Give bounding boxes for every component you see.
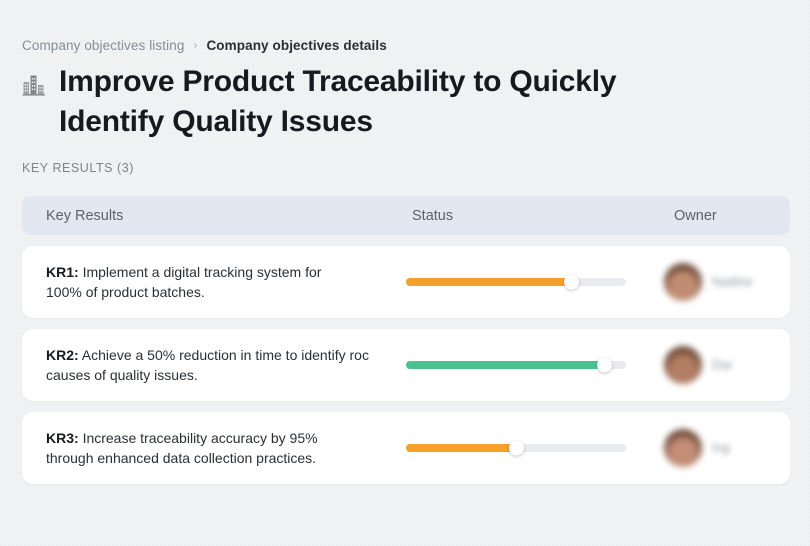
owner-name: Ing — [712, 441, 730, 455]
owner-cell[interactable]: Nadine — [658, 263, 790, 301]
owner-cell[interactable]: Ing — [658, 429, 790, 467]
owner-name: Nadine — [712, 275, 753, 289]
breadcrumb-link-listing[interactable]: Company objectives listing — [22, 38, 184, 53]
key-result-id: KR1: — [46, 264, 79, 280]
key-result-line-2: 100% of product batches. — [46, 282, 396, 302]
owner-name: Dar — [712, 358, 733, 372]
page-title-row: Improve Product Traceability to Quickly … — [22, 62, 722, 142]
key-result-text: KR3: Increase traceability accuracy by 9… — [46, 428, 396, 469]
column-header-owner: Owner — [674, 208, 790, 224]
breadcrumb-current-details: Company objectives details — [206, 38, 386, 53]
breadcrumb: Company objectives listing › Company obj… — [22, 38, 387, 53]
table-row[interactable]: KR3: Increase traceability accuracy by 9… — [22, 412, 790, 484]
avatar — [664, 346, 702, 384]
key-result-line-2: causes of quality issues. — [46, 365, 396, 385]
key-result-text: KR1: Implement a digital tracking system… — [46, 262, 396, 303]
key-results-table: Key Results Status Owner KR1: Implement … — [22, 196, 790, 484]
column-header-key-results: Key Results — [46, 208, 412, 224]
progress-slider[interactable] — [406, 444, 626, 452]
avatar — [664, 263, 702, 301]
table-row[interactable]: KR2: Achieve a 50% reduction in time to … — [22, 329, 790, 401]
key-result-line-1: Implement a digital tracking system for — [83, 264, 322, 280]
progress-knob[interactable] — [509, 441, 524, 456]
page-root: Company objectives listing › Company obj… — [0, 0, 810, 546]
status-cell — [396, 361, 658, 369]
progress-fill — [406, 278, 571, 286]
progress-slider[interactable] — [406, 278, 626, 286]
progress-slider[interactable] — [406, 361, 626, 369]
key-results-section-label: KEY RESULTS (3) — [22, 161, 134, 175]
progress-fill — [406, 361, 604, 369]
table-header-row: Key Results Status Owner — [22, 196, 790, 235]
key-result-line-1: Achieve a 50% reduction in time to ident… — [82, 347, 369, 363]
progress-knob[interactable] — [564, 275, 579, 290]
key-result-id: KR2: — [46, 347, 79, 363]
page-title: Improve Product Traceability to Quickly … — [59, 62, 699, 142]
progress-fill — [406, 444, 516, 452]
breadcrumb-separator-icon: › — [193, 39, 197, 51]
key-result-id: KR3: — [46, 430, 79, 446]
status-cell — [396, 444, 658, 452]
office-building-icon — [22, 71, 46, 97]
key-result-text: KR2: Achieve a 50% reduction in time to … — [46, 345, 396, 386]
avatar — [664, 429, 702, 467]
column-header-status: Status — [412, 208, 674, 224]
table-row[interactable]: KR1: Implement a digital tracking system… — [22, 246, 790, 318]
status-cell — [396, 278, 658, 286]
key-result-line-1: Increase traceability accuracy by 95% — [83, 430, 318, 446]
table-body: KR1: Implement a digital tracking system… — [22, 246, 790, 484]
key-result-line-2: through enhanced data collection practic… — [46, 448, 396, 468]
progress-knob[interactable] — [597, 358, 612, 373]
owner-cell[interactable]: Dar — [658, 346, 790, 384]
